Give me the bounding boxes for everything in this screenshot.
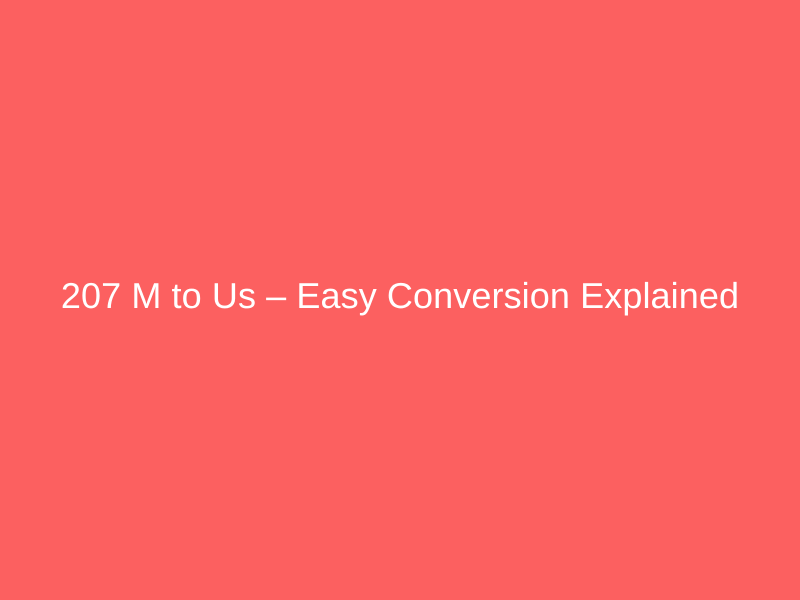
page-title: 207 M to Us – Easy Conversion Explained xyxy=(0,274,800,318)
placeholder-canvas: 207 M to Us – Easy Conversion Explained xyxy=(0,0,800,600)
